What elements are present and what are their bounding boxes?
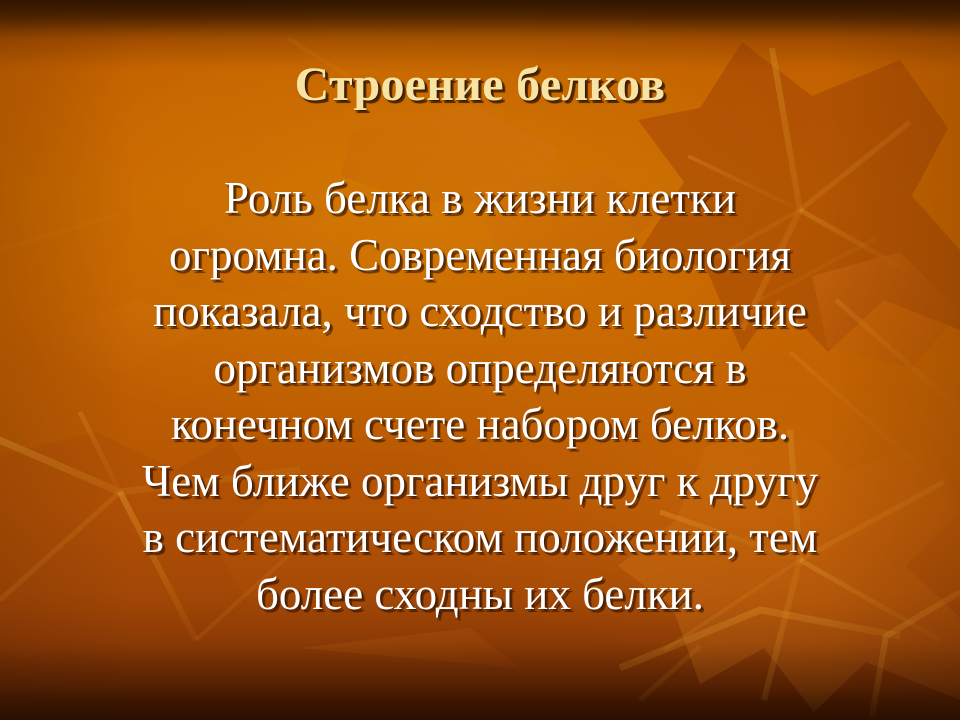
body-paragraph: Роль белка в жизни клетки огромна. Совре…: [58, 170, 902, 622]
body-line: в систематическом положении, тем: [58, 509, 902, 566]
body-line: конечном счете набором белков.: [58, 396, 902, 453]
body-line: организмов определяются в: [58, 340, 902, 397]
body-line: Роль белка в жизни клетки: [58, 170, 902, 227]
body-line: более сходны их белки.: [58, 566, 902, 623]
slide-title: Строение белков: [0, 56, 960, 114]
presentation-slide: Строение белков Роль белка в жизни клетк…: [0, 0, 960, 720]
body-line: Чем ближе организмы друг к другу: [58, 453, 902, 510]
slide-body-text: Роль белка в жизни клетки огромна. Совре…: [58, 170, 902, 622]
body-line: показала, что сходство и различие: [58, 283, 902, 340]
slide-content: Строение белков Роль белка в жизни клетк…: [0, 0, 960, 720]
body-line: огромна. Современная биология: [58, 227, 902, 284]
